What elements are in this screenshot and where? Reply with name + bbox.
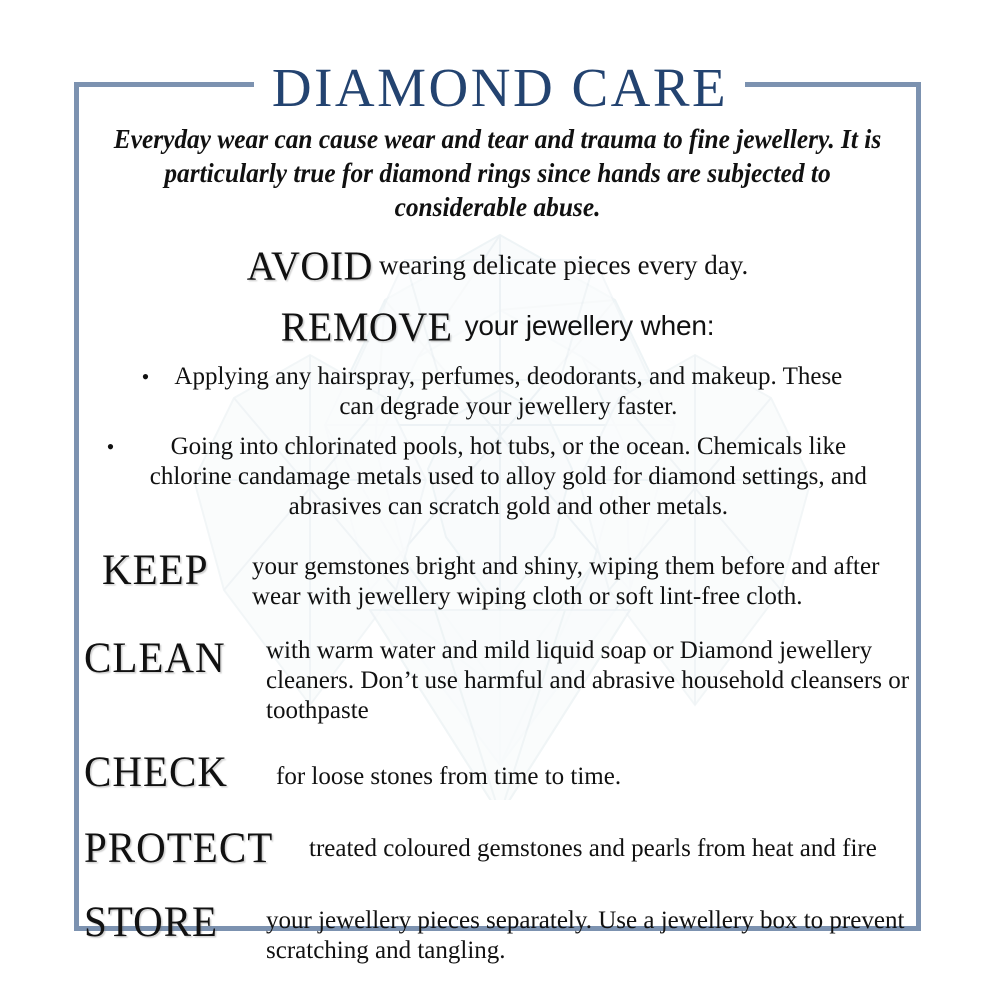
list-item-text: Going into chlorinated pools, hot tubs, … — [128, 432, 888, 522]
instruction-keyword: STORE — [84, 898, 256, 945]
list-item: • Applying any hairspray, perfumes, deod… — [80, 362, 915, 422]
remove-bullet-list: • Applying any hairspray, perfumes, deod… — [80, 362, 915, 522]
instruction-row-keep: KEEP your gemstones bright and shiny, wi… — [80, 546, 915, 612]
instruction-keyword: PROTECT — [84, 824, 299, 871]
bullet-dot-icon: • — [142, 362, 150, 392]
remove-text: your jewellery when: — [465, 310, 715, 341]
remove-keyword: REMOVE — [281, 302, 453, 351]
instruction-row-protect: PROTECT treated coloured gemstones and p… — [80, 824, 915, 868]
bullet-dot-icon: • — [107, 432, 115, 462]
poster-content: Everyday wear can cause wear and tear an… — [80, 122, 915, 966]
list-item-text: Applying any hairspray, perfumes, deodor… — [163, 362, 853, 422]
avoid-keyword: AVOID — [247, 241, 373, 290]
intro-paragraph: Everyday wear can cause wear and tear an… — [105, 122, 890, 224]
frame-left-border — [74, 82, 79, 931]
diamond-care-poster: DIAMOND CARE Everyday wear can cause wea… — [0, 0, 1000, 1000]
frame-right-border — [916, 82, 921, 931]
instruction-text: your gemstones bright and shiny, wiping … — [252, 546, 915, 612]
list-item: • Going into chlorinated pools, hot tubs… — [80, 432, 915, 522]
instruction-text: for loose stones from time to time. — [262, 748, 915, 792]
page-title: DIAMOND CARE — [0, 57, 1000, 119]
instruction-text: treated coloured gemstones and pearls fr… — [299, 824, 915, 864]
instruction-keyword: KEEP — [102, 546, 252, 593]
remove-row: REMOVEyour jewellery when: — [80, 303, 915, 350]
instruction-keyword: CHECK — [84, 748, 262, 795]
instruction-row-check: CHECK for loose stones from time to time… — [80, 748, 915, 792]
instruction-text: with warm water and mild liquid soap or … — [266, 634, 915, 726]
instruction-row-clean: CLEAN with warm water and mild liquid so… — [80, 634, 915, 726]
instruction-row-store: STORE your jewellery pieces separately. … — [80, 898, 915, 966]
instruction-keyword: CLEAN — [84, 634, 266, 681]
avoid-text: wearing delicate pieces every day. — [379, 250, 748, 280]
instruction-text: your jewellery pieces separately. Use a … — [256, 898, 915, 966]
avoid-row: AVOIDwearing delicate pieces every day. — [80, 242, 915, 289]
